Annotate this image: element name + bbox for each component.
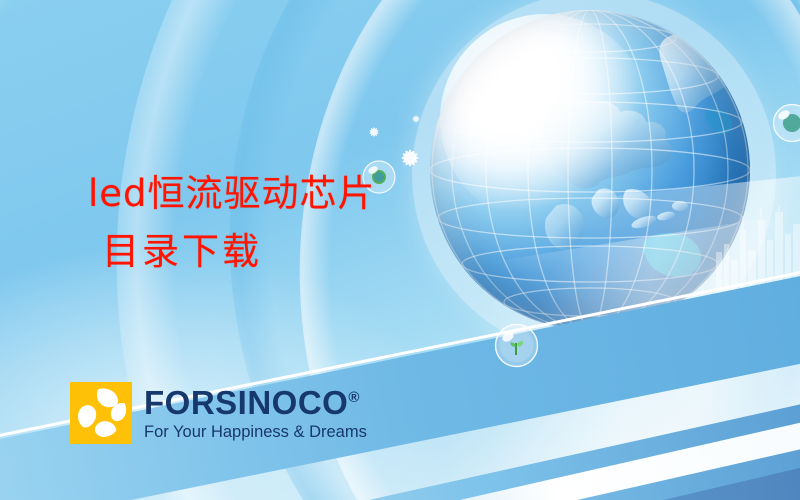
bubble-globe-icon (772, 103, 800, 148)
logo-wordmark-text: FORSINOCO (144, 384, 348, 421)
four-petal-flower-icon (70, 382, 132, 444)
registered-trademark-icon: ® (348, 389, 360, 406)
headline-line-1: led恒流驱动芯片 (88, 172, 376, 215)
headline-line-2: 目录下载 (88, 223, 376, 281)
headline-text: led恒流驱动芯片 目录下载 (88, 165, 376, 281)
logo-tagline: For Your Happiness & Dreams (144, 422, 367, 442)
company-logo[interactable]: FORSINOCO® For Your Happiness & Dreams (70, 382, 390, 448)
bubble-sprout-icon (494, 323, 539, 373)
product-banner: led恒流驱动芯片 目录下载 FORSINOCO® For Your Happi… (0, 0, 800, 500)
logo-wordmark: FORSINOCO® (144, 380, 367, 421)
